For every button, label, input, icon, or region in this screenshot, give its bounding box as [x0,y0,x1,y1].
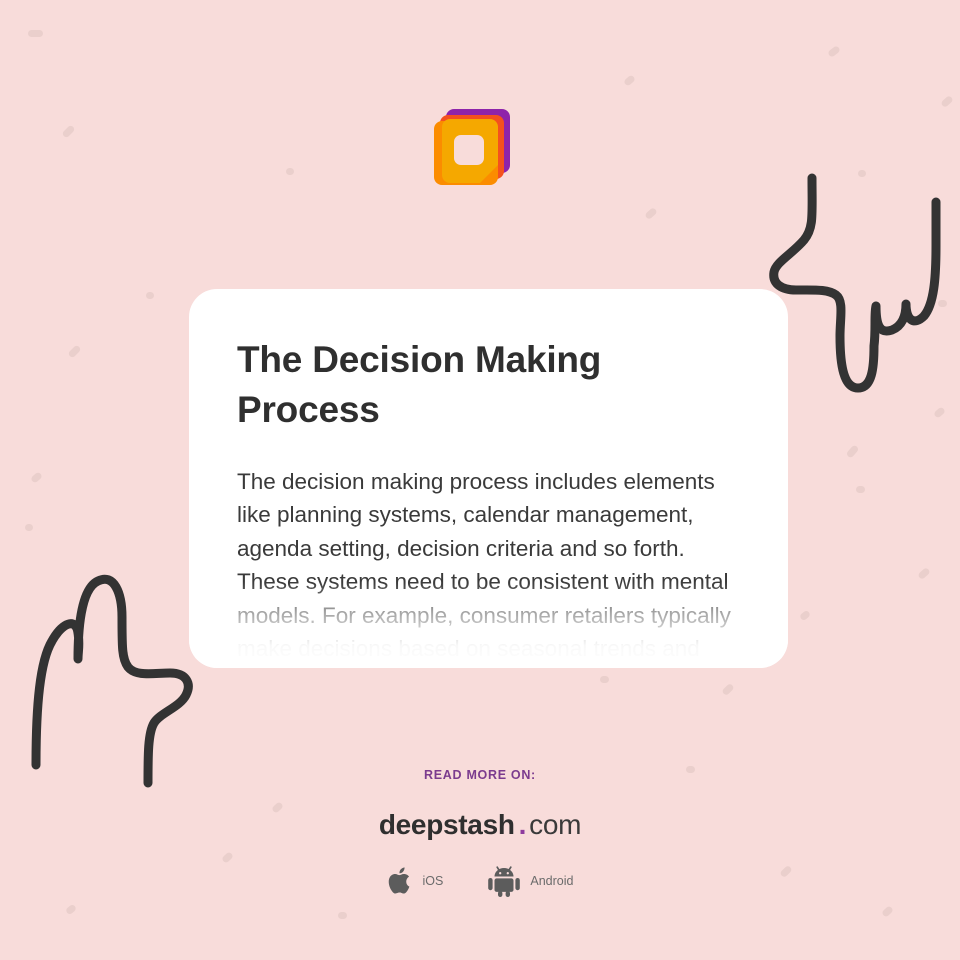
poster-canvas: The Decision Making Process The decision… [0,0,960,960]
android-store-badge[interactable]: Android [487,865,573,897]
card-title: The Decision Making Process [237,335,744,435]
background-speck [67,344,81,358]
background-speck [917,567,931,580]
background-speck [286,168,294,175]
background-speck [28,30,43,37]
background-speck [940,95,954,108]
android-icon [487,865,521,897]
background-speck [799,610,811,622]
background-speck [338,912,347,919]
ios-store-label: iOS [423,874,444,888]
footer: READ MORE ON: deepstash . com iOS [0,768,960,897]
background-speck [933,406,946,418]
apple-icon [387,865,414,897]
background-speck [827,45,841,58]
android-store-label: Android [530,874,573,888]
background-speck [858,170,866,177]
background-speck [61,124,75,138]
background-speck [65,904,77,916]
background-speck [721,683,734,696]
background-speck [30,471,43,483]
background-speck [600,676,609,683]
app-store-badges: iOS [0,865,960,897]
background-speck [644,207,658,220]
wordmark-dot: . [519,809,526,841]
background-speck [146,292,154,299]
deepstash-wordmark[interactable]: deepstash . com [0,809,960,841]
read-more-label: READ MORE ON: [0,768,960,782]
background-speck [846,444,860,458]
background-speck [881,905,894,918]
background-speck [623,74,636,86]
background-speck [25,524,33,531]
wordmark-tld: com [529,809,581,841]
ios-store-badge[interactable]: iOS [387,865,444,897]
card-body-text: The decision making process includes ele… [237,465,744,668]
deepstash-logo [428,105,518,197]
background-speck [938,300,947,307]
background-speck [856,486,865,493]
idea-card: The Decision Making Process The decision… [189,289,788,668]
wordmark-name: deepstash [379,809,515,841]
